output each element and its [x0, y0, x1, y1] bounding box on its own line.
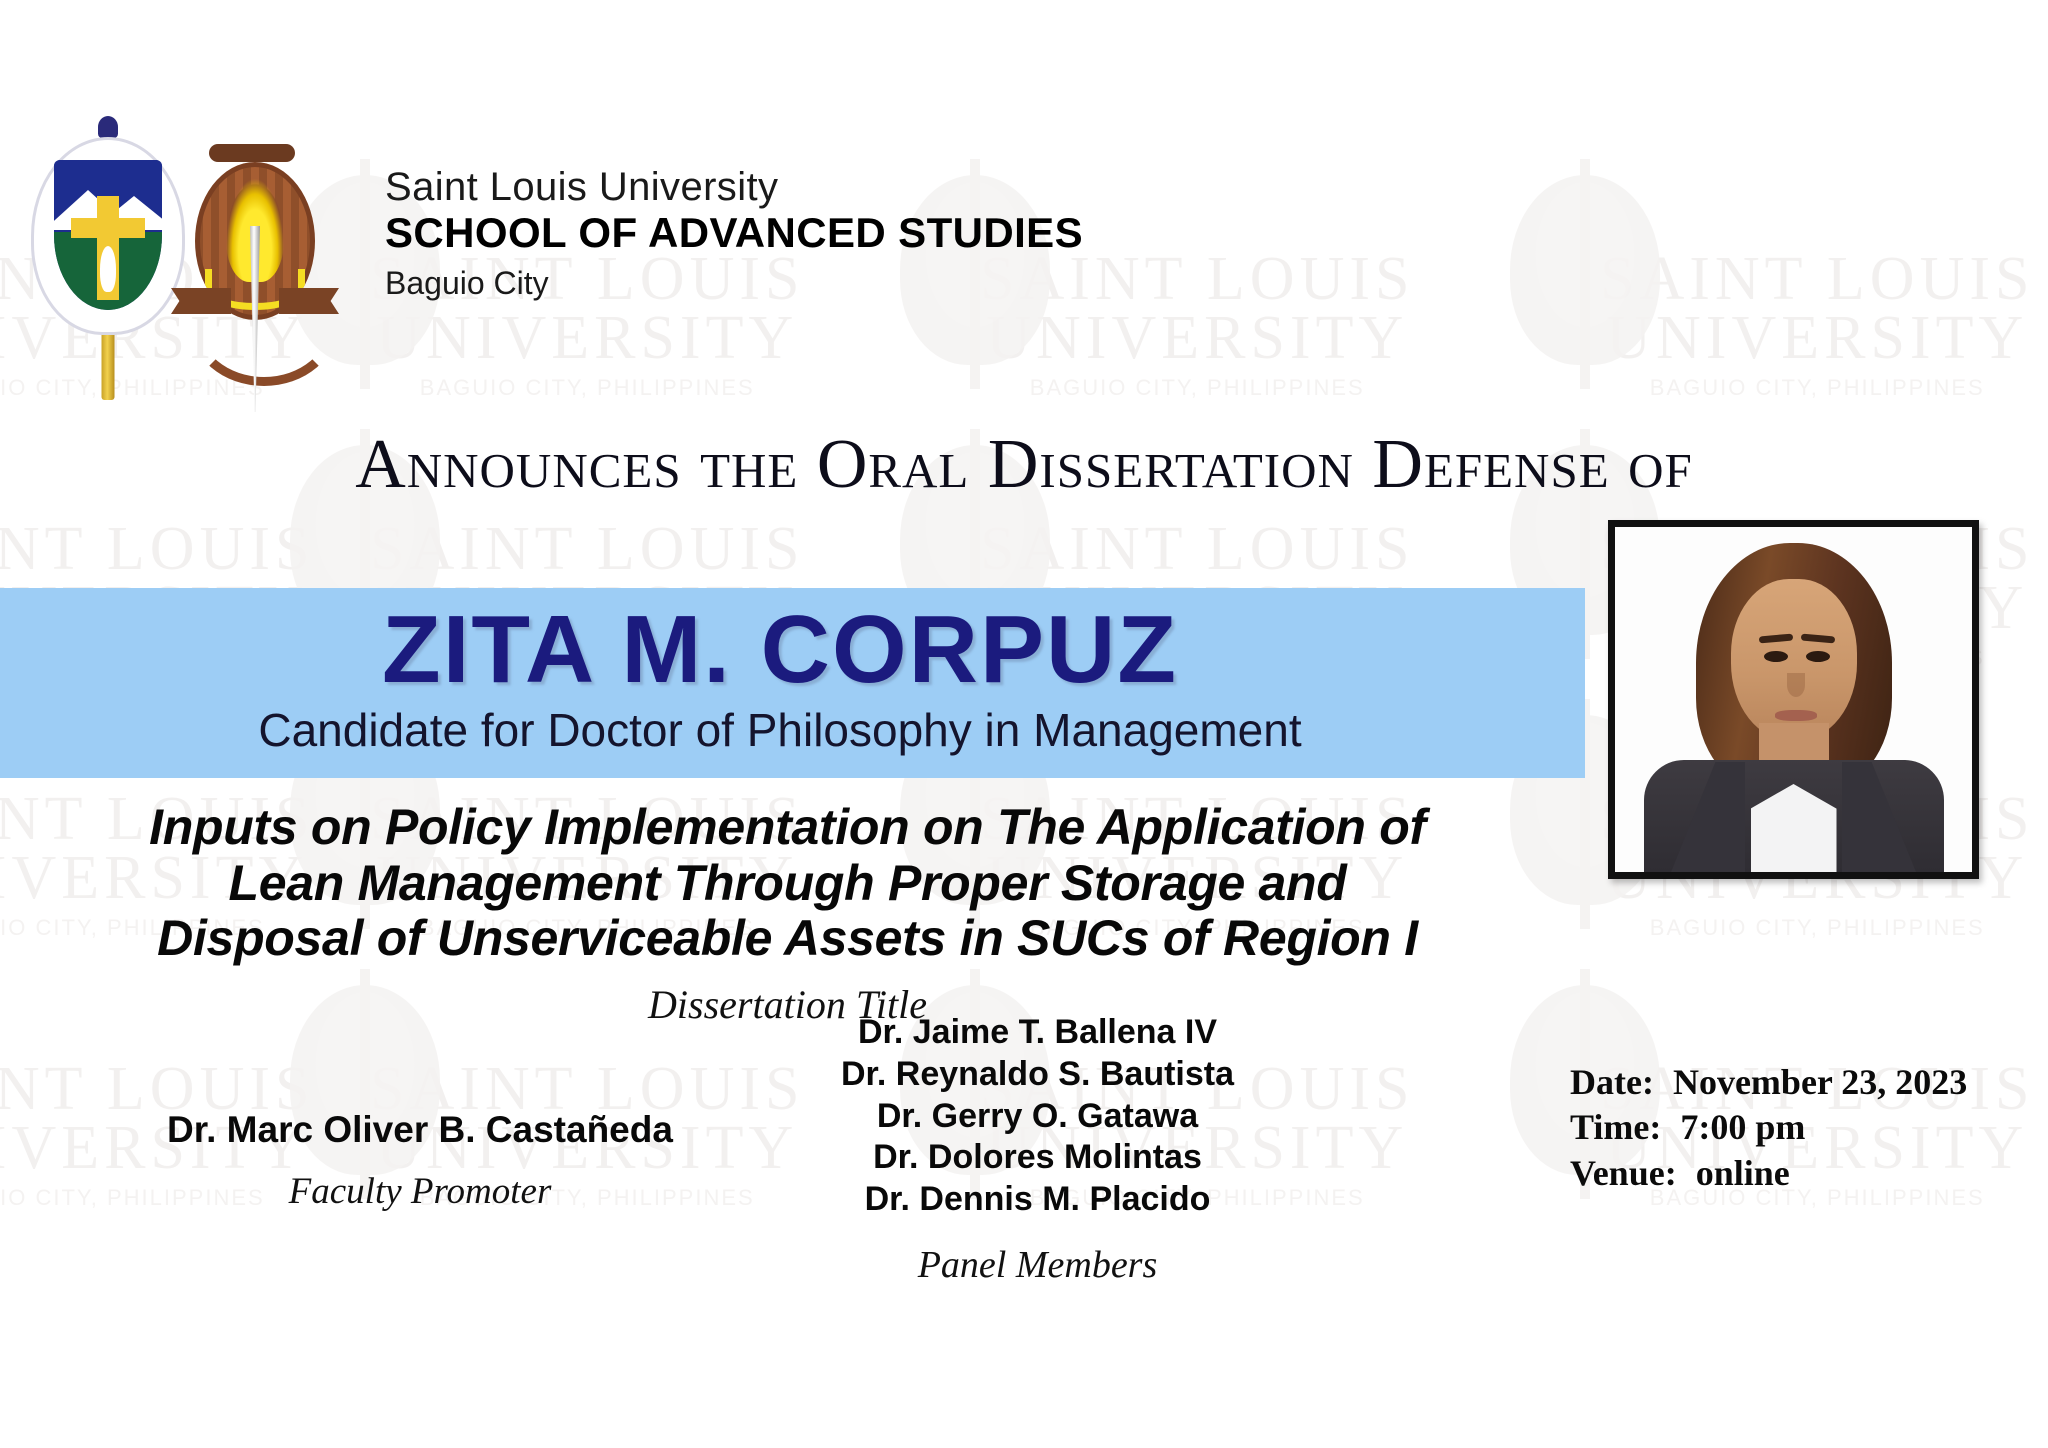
event-venue-value: online — [1696, 1151, 1790, 1196]
watermark-seal-icon — [1510, 175, 1660, 365]
photo-eye-right — [1806, 651, 1830, 662]
photo-eye-left — [1764, 651, 1788, 662]
seal-cap — [209, 144, 295, 162]
watermark-line-3: BAGUIO CITY, PHILIPPINES — [370, 378, 804, 399]
event-venue-row: Venue: online — [1570, 1151, 1990, 1196]
watermark-line-1: SAINT LOUIS — [370, 520, 804, 579]
event-date-row: Date: November 23, 2023 — [1570, 1060, 1990, 1105]
panel-members-block: Dr. Jaime T. Ballena IV Dr. Reynaldo S. … — [745, 1012, 1330, 1287]
seal-ribbon-left — [171, 288, 231, 314]
seal-ribbon-right — [279, 288, 339, 314]
dissertation-block: Inputs on Policy Implementation on The A… — [0, 800, 1575, 1028]
panel-members-label: Panel Members — [745, 1243, 1330, 1287]
photo-nose — [1787, 673, 1805, 697]
school-of-advanced-studies-seal-icon — [175, 140, 335, 380]
faculty-promoter-name: Dr. Marc Oliver B. Castañeda — [120, 1108, 720, 1152]
event-time-value: 7:00 pm — [1680, 1105, 1805, 1150]
event-time-label: Time: — [1570, 1105, 1661, 1150]
university-name: Saint Louis University — [385, 165, 1083, 209]
school-name: SCHOOL OF ADVANCED STUDIES — [385, 209, 1083, 257]
crest-staff-top — [98, 116, 118, 138]
candidate-degree: Candidate for Doctor of Philosophy in Ma… — [0, 704, 1560, 757]
candidate-photo-image — [1615, 527, 1972, 872]
crest-fleur-de-lis — [100, 246, 116, 292]
watermark-line-2: UNIVERSITY — [1600, 309, 2034, 368]
seal-arc-band — [189, 258, 339, 386]
crest-cross-horizontal — [71, 218, 145, 238]
event-details-block: Date: November 23, 2023 Time: 7:00 pm Ve… — [1570, 1060, 1990, 1196]
institution-header: Saint Louis University SCHOOL OF ADVANCE… — [0, 110, 1100, 330]
watermark-line-1: SAINT LOUIS — [1600, 250, 2034, 309]
watermark-line-1: SAINT LOUIS — [0, 520, 314, 579]
faculty-promoter-label: Faculty Promoter — [120, 1170, 720, 1213]
watermark-line-1: SAINT LOUIS — [980, 520, 1414, 579]
candidate-name: ZITA M. CORPUZ — [0, 588, 1560, 698]
panel-member: Dr. Dolores Molintas — [745, 1137, 1330, 1179]
crest-shield — [54, 160, 162, 310]
event-date-value: November 23, 2023 — [1673, 1060, 1967, 1105]
institution-name-block: Saint Louis University SCHOOL OF ADVANCE… — [385, 165, 1083, 306]
dissertation-title-line-3: Disposal of Unserviceable Assets in SUCs… — [40, 911, 1535, 967]
panel-member: Dr. Reynaldo S. Bautista — [745, 1054, 1330, 1096]
watermark-line-3: BAGUIO CITY, PHILIPPINES — [980, 378, 1414, 399]
event-date-label: Date: — [1570, 1060, 1654, 1105]
announcement-headline: Announces the Oral Dissertation Defense … — [0, 425, 2048, 505]
panel-member: Dr. Gerry O. Gatawa — [745, 1096, 1330, 1138]
candidate-photo — [1608, 520, 1979, 879]
watermark-text: SAINT LOUIS UNIVERSITY BAGUIO CITY, PHIL… — [1600, 250, 2034, 399]
photo-mouth — [1775, 710, 1817, 721]
panel-member: Dr. Dennis M. Placido — [745, 1179, 1330, 1221]
slu-crest-logo-icon — [28, 110, 188, 400]
candidate-block: ZITA M. CORPUZ Candidate for Doctor of P… — [0, 588, 1560, 778]
dissertation-defense-poster: SAINT LOUIS UNIVERSITY BAGUIO CITY, PHIL… — [0, 0, 2048, 1448]
watermark-line-3: BAGUIO CITY, PHILIPPINES — [1600, 918, 2034, 939]
city-name: Baguio City — [385, 261, 1083, 306]
faculty-promoter-block: Dr. Marc Oliver B. Castañeda Faculty Pro… — [120, 1108, 720, 1213]
footer-row: Dr. Marc Oliver B. Castañeda Faculty Pro… — [0, 1000, 2048, 1260]
event-venue-label: Venue: — [1570, 1151, 1677, 1196]
dissertation-title-line-2: Lean Management Through Proper Storage a… — [40, 856, 1535, 912]
dissertation-title-line-1: Inputs on Policy Implementation on The A… — [40, 800, 1535, 856]
dissertation-title: Inputs on Policy Implementation on The A… — [0, 800, 1575, 967]
event-time-row: Time: 7:00 pm — [1570, 1105, 1990, 1150]
panel-member: Dr. Jaime T. Ballena IV — [745, 1012, 1330, 1054]
watermark-line-3: BAGUIO CITY, PHILIPPINES — [1600, 378, 2034, 399]
